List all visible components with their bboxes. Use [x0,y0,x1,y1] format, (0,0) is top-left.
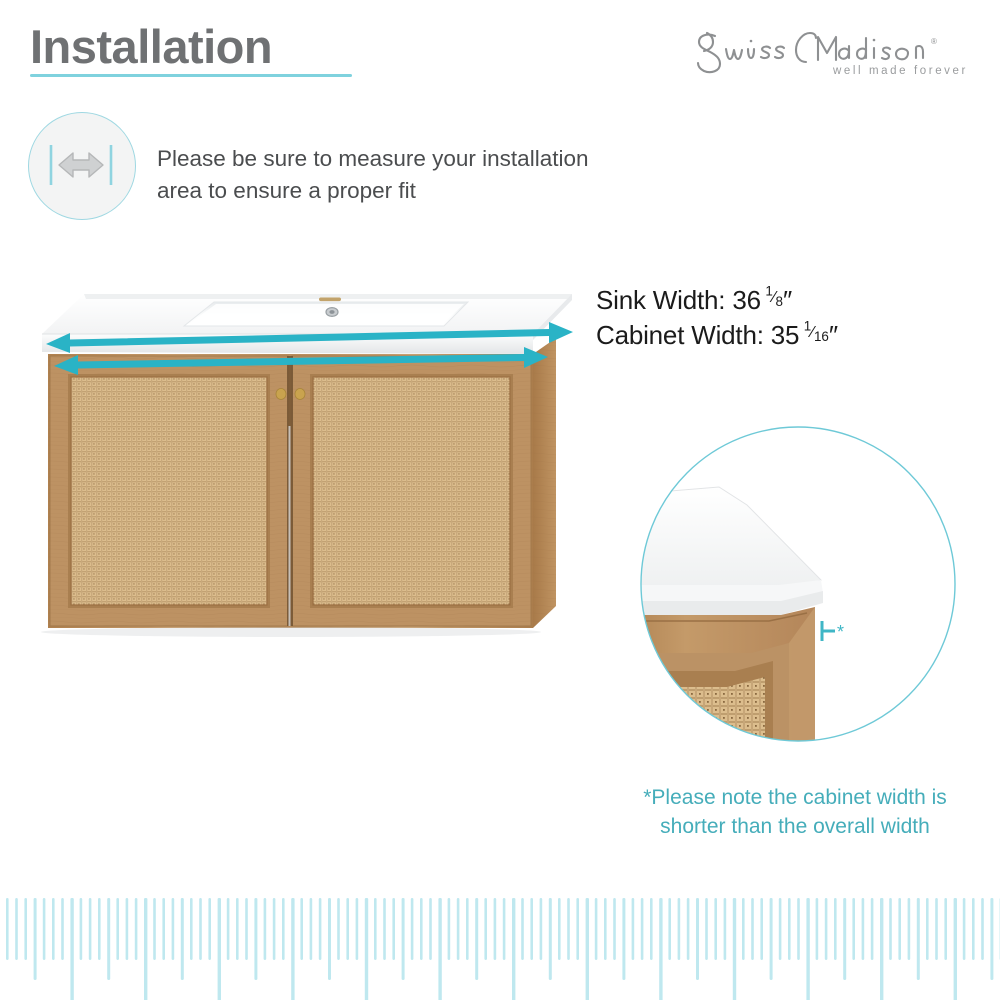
page-title: Installation [30,22,352,71]
measure-icon-badge [28,112,136,220]
ruler-tick [751,898,754,960]
ruler-tick [208,898,211,960]
ruler-tick [319,898,322,960]
sink-inch-mark: ″ [783,285,792,315]
measure-width-icon [29,113,133,217]
ruler-tick [760,898,763,960]
sink-width-fraction: 1⁄8 [761,288,783,306]
registered-mark: ® [931,37,937,46]
ruler-tick [632,898,635,960]
ruler-tick [843,898,846,980]
ruler-tick [733,898,736,1000]
ruler-tick [162,898,165,960]
ruler-tick [668,898,671,960]
ruler-tick [6,898,9,960]
ruler-tick [475,898,478,980]
ruler-tick [576,898,579,960]
ruler-tick [530,898,533,960]
sink-width-line: Sink Width: 36 1⁄8″ [596,283,838,318]
title-underline [30,74,352,77]
measure-note-text: Please be sure to measure your installat… [157,143,597,207]
ruler-tick [595,898,598,960]
ruler-tick [383,898,386,960]
ruler-tick [227,898,230,960]
ruler-tick [981,898,984,960]
cabinet-width-fraction: 1⁄16 [799,323,829,341]
cabinet-door-right [292,356,531,626]
ruler-tick [70,898,73,1000]
ruler-tick [622,898,625,980]
brand-logo: ® well made forever [678,24,978,88]
ruler-tick [917,898,920,980]
ruler-tick [282,898,285,960]
ruler-tick [80,898,83,960]
ruler-tick [291,898,294,1000]
ruler-tick [889,898,892,960]
ruler-tick [825,898,828,960]
swiss-madison-logo-icon: ® well made forever [678,24,978,88]
ruler-tick [264,898,267,960]
ruler-tick [61,898,64,960]
ruler-tick [926,898,929,960]
page-title-block: Installation [30,22,352,77]
ruler-tick [98,898,101,960]
cabinet-inch-mark: ″ [829,320,838,350]
ruler-tick [144,898,147,1000]
ruler-tick [816,898,819,960]
ruler-tick [908,898,911,960]
ruler-tick [779,898,782,960]
brand-tagline: well made forever [832,65,968,77]
ruler-tick [420,898,423,960]
ruler-tick [503,898,506,960]
ruler-tick [218,898,221,1000]
ruler-tick [834,898,837,960]
detail-asterisk: * [837,622,844,642]
ruler-tick [190,898,193,960]
ruler-tick [116,898,119,960]
cabinet-width-label: Cabinet Width: [596,320,764,350]
ruler-tick [392,898,395,960]
ruler-tick [52,898,55,960]
sink-width-label: Sink Width: [596,285,725,315]
cabinet-door-left [50,356,288,626]
dimension-callouts: Sink Width: 36 1⁄8″ Cabinet Width: 35 1⁄… [596,283,838,352]
ruler-tick [770,898,773,980]
ruler-tick [89,898,92,960]
ruler-tick [687,898,690,960]
ruler-tick [806,898,809,1000]
ruler-tick [484,898,487,960]
ruler-tick [788,898,791,960]
ruler-tick [466,898,469,960]
ruler-tick [567,898,570,960]
ruler-tick [549,898,552,980]
ruler-tick [659,898,662,1000]
ruler-tick [402,898,405,980]
ruler-tick [678,898,681,960]
ruler-tick [356,898,359,960]
ruler-tick [935,898,938,960]
ruler-tick [944,898,947,960]
ruler-tick [724,898,727,960]
ruler-tick [199,898,202,960]
door-knob-right [295,389,305,400]
ruler-tick [457,898,460,960]
ruler-tick [650,898,653,960]
ruler-tick [862,898,865,960]
ruler-tick [641,898,644,960]
ruler-tick [898,898,901,960]
corner-detail-zoom: * [639,425,957,743]
ruler-tick [972,898,975,960]
ruler-tick [24,898,27,960]
ruler-tick [540,898,543,960]
ruler-tick [107,898,110,980]
ruler-tick [34,898,37,980]
installation-page: Installation [0,0,1000,1000]
ruler-tick [15,898,18,960]
cabinet-width-line: Cabinet Width: 35 1⁄16″ [596,318,838,353]
detail-contents [639,487,823,743]
ruler-tick [153,898,156,960]
ruler-tick [126,898,129,960]
ruler-tick [300,898,303,960]
ruler-tick [604,898,607,960]
ruler-tick [346,898,349,960]
ruler-tick [512,898,515,1000]
vanity-illustration [36,276,576,641]
ruler-tick [438,898,441,1000]
ruler-tick [411,898,414,960]
ruler-tick [328,898,331,980]
cabinet-width-footnote: *Please note the cabinet width is shorte… [600,784,990,842]
ruler-tick [613,898,616,960]
ruler-tick [586,898,589,1000]
thickness-marker: * [822,621,844,642]
ruler-tick [448,898,451,960]
ruler-tick [954,898,957,1000]
ruler-tick [365,898,368,1000]
ruler-tick [181,898,184,980]
ruler-tick [797,898,800,960]
ruler-tick [558,898,561,960]
ruler-tick [429,898,432,960]
ruler-tick [521,898,524,960]
footnote-line-1: *Please note the cabinet width is [600,784,990,813]
ruler-tick [880,898,883,1000]
door-knob-left [276,389,286,400]
faucet-hole [319,298,341,302]
ruler-tick [337,898,340,960]
ruler-tick [990,898,993,980]
ruler-decoration [0,880,1000,1000]
ruler-tick [236,898,239,960]
footnote-line-2: shorter than the overall width [600,813,990,842]
ruler-tick [714,898,717,960]
ruler-tick [494,898,497,960]
ruler-tick [273,898,276,960]
ruler-tick [245,898,248,960]
ruler-tick [135,898,138,960]
ruler-tick [963,898,966,960]
ruler-tick [696,898,699,980]
cabinet-width-value: 35 [771,320,800,350]
sink-width-value: 36 [732,285,761,315]
ruler-tick [852,898,855,960]
ruler-tick [172,898,175,960]
ruler-tick [374,898,377,960]
ruler-tick [43,898,46,960]
ruler-tick [742,898,745,960]
ruler-tick [705,898,708,960]
ruler-tick [254,898,257,980]
ruler-tick [871,898,874,960]
ruler-tick [310,898,313,960]
